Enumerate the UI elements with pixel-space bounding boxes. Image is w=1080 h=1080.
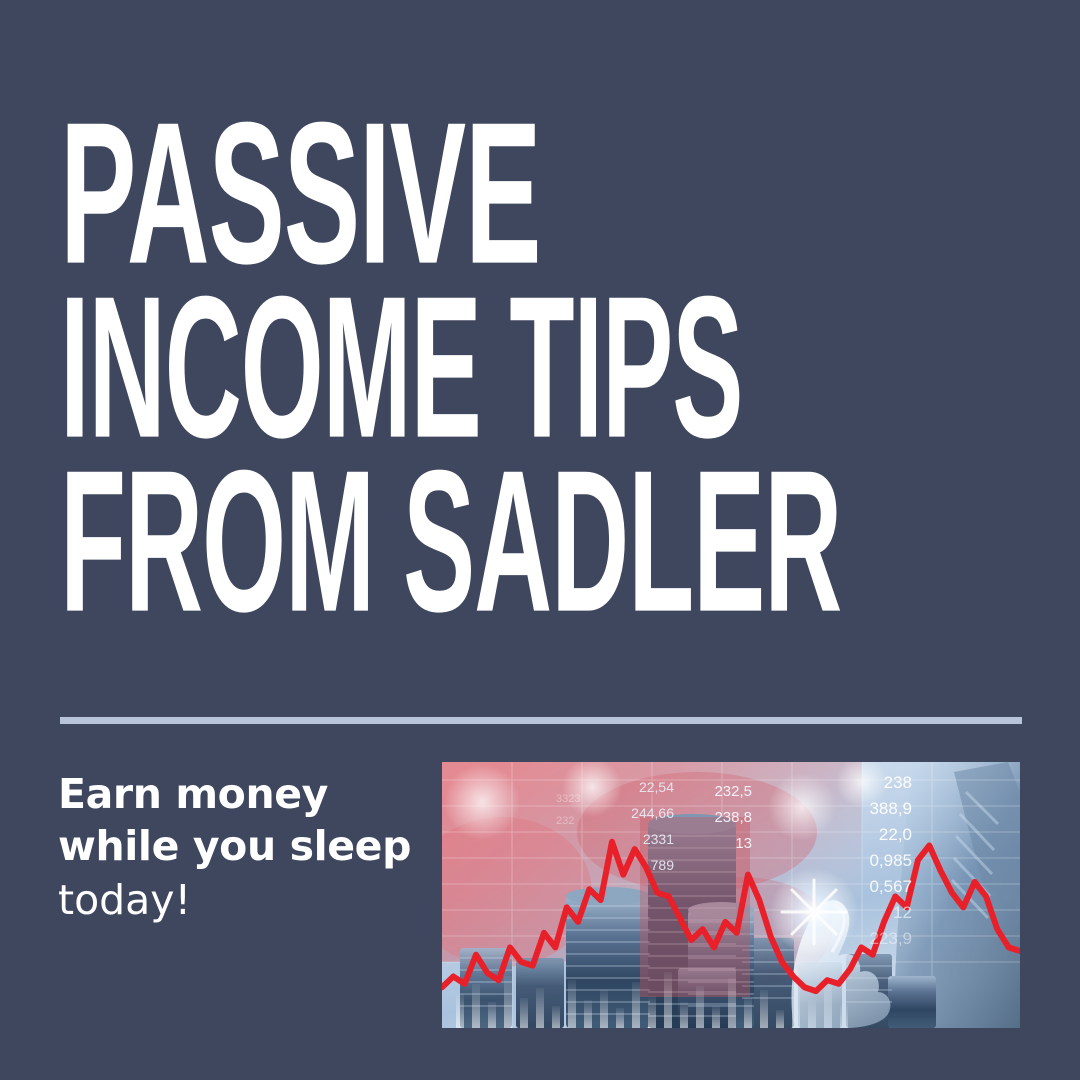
faint-label-0: 3323: [556, 793, 580, 805]
ticker-right-3: 0,985: [869, 851, 912, 870]
ticker-middle-3: 789: [651, 857, 675, 873]
ticker-right-6: 223,9: [869, 929, 912, 948]
finance-photo-graphic: 3323 232 22,54 244,66 2331 789 232,5 238…: [442, 762, 1020, 1028]
ticker-right-0: 238: [884, 773, 912, 792]
ticker-middle-1: 244,66: [631, 805, 674, 821]
horizontal-divider: [60, 717, 1022, 724]
ticker-right-4: 0,567: [869, 877, 912, 896]
ticker-right-5: 12: [893, 903, 912, 922]
headline-line-3: FROM SADLER: [60, 452, 601, 631]
subcopy-line-1: Earn money: [58, 768, 438, 820]
ticker-middle-0: 22,54: [639, 779, 674, 795]
headline-block: PASSIVE INCOME TIPS FROM SADLER: [60, 104, 1040, 626]
ticker-left-1: 238,8: [714, 809, 752, 826]
ticker-right-2: 22,0: [879, 825, 912, 844]
subcopy-block: Earn money while you sleep today!: [58, 768, 438, 928]
subcopy-line-2: while you sleep: [58, 820, 438, 872]
finance-photo: 3323 232 22,54 244,66 2331 789 232,5 238…: [442, 762, 1020, 1028]
ticker-left-2: 13: [735, 835, 752, 852]
poster-canvas: PASSIVE INCOME TIPS FROM SADLER Earn mon…: [0, 0, 1080, 1080]
ticker-left-0: 232,5: [714, 783, 752, 800]
ticker-right-1: 388,9: [869, 799, 912, 818]
ticker-middle-2: 2331: [643, 831, 674, 847]
faint-label-1: 232: [556, 815, 574, 827]
subcopy-line-3: today!: [58, 872, 438, 928]
